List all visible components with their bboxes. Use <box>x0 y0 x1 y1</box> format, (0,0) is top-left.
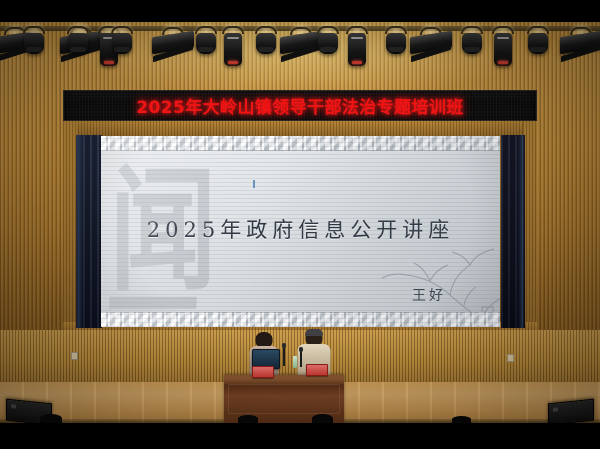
slide-cursor-marker <box>253 180 255 188</box>
led-banner-text: 2025年大岭山镇领导干部法治专题培训班 <box>136 93 463 118</box>
slide-border-bottom <box>101 312 500 327</box>
slide-author: 王好 <box>412 285 446 305</box>
letterbox-bottom-bar <box>0 423 600 449</box>
slide-title: 2025年政府信息公开讲座 <box>101 214 500 244</box>
slide-border-top <box>101 136 500 151</box>
auditorium-stage-scene: 2025年大岭山镇领导干部法治专题培训班 闻 一 2025年政府信息公开讲 <box>0 0 600 449</box>
letterbox-top-bar <box>0 0 600 22</box>
